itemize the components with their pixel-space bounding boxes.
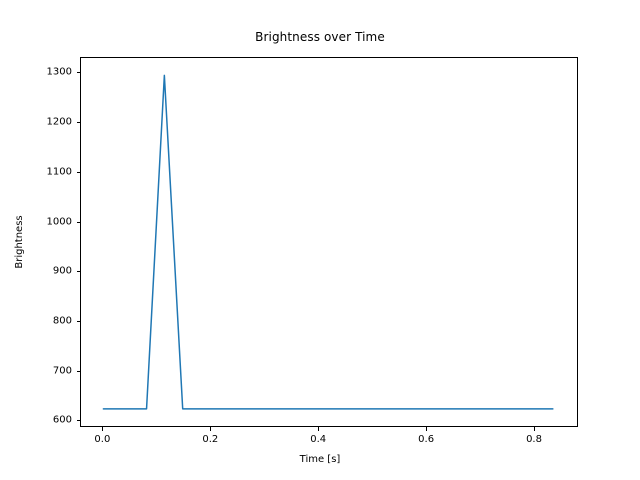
y-tick-mark	[77, 371, 81, 372]
chart-figure: Brightness over Time Brightness 60070080…	[0, 0, 640, 480]
x-tick-mark	[426, 427, 427, 431]
x-tick-label: 0.0	[94, 434, 110, 445]
y-tick-label: 1200	[20, 117, 72, 128]
chart-title: Brightness over Time	[0, 30, 640, 44]
y-tick-mark	[77, 420, 81, 421]
y-tick-mark	[77, 122, 81, 123]
x-tick-mark	[318, 427, 319, 431]
y-tick-mark	[77, 222, 81, 223]
x-tick-mark	[102, 427, 103, 431]
y-tick-mark	[77, 72, 81, 73]
y-tick-label: 700	[20, 365, 72, 376]
x-tick-label: 0.6	[418, 434, 434, 445]
y-tick-label: 800	[20, 315, 72, 326]
y-tick-label: 1100	[20, 166, 72, 177]
plot-area	[80, 57, 578, 427]
x-tick-label: 0.2	[202, 434, 218, 445]
x-tick-mark	[210, 427, 211, 431]
y-tick-mark	[77, 172, 81, 173]
data-line-series	[81, 58, 579, 428]
y-tick-mark	[77, 271, 81, 272]
y-tick-label: 1000	[20, 216, 72, 227]
x-axis-label: Time [s]	[0, 454, 640, 465]
y-tick-label: 900	[20, 266, 72, 277]
x-tick-label: 0.4	[310, 434, 326, 445]
y-tick-label: 600	[20, 415, 72, 426]
x-tick-label: 0.8	[526, 434, 542, 445]
y-tick-mark	[77, 321, 81, 322]
series-brightness-polyline	[103, 75, 552, 408]
x-tick-mark	[534, 427, 535, 431]
y-tick-label: 1300	[20, 67, 72, 78]
